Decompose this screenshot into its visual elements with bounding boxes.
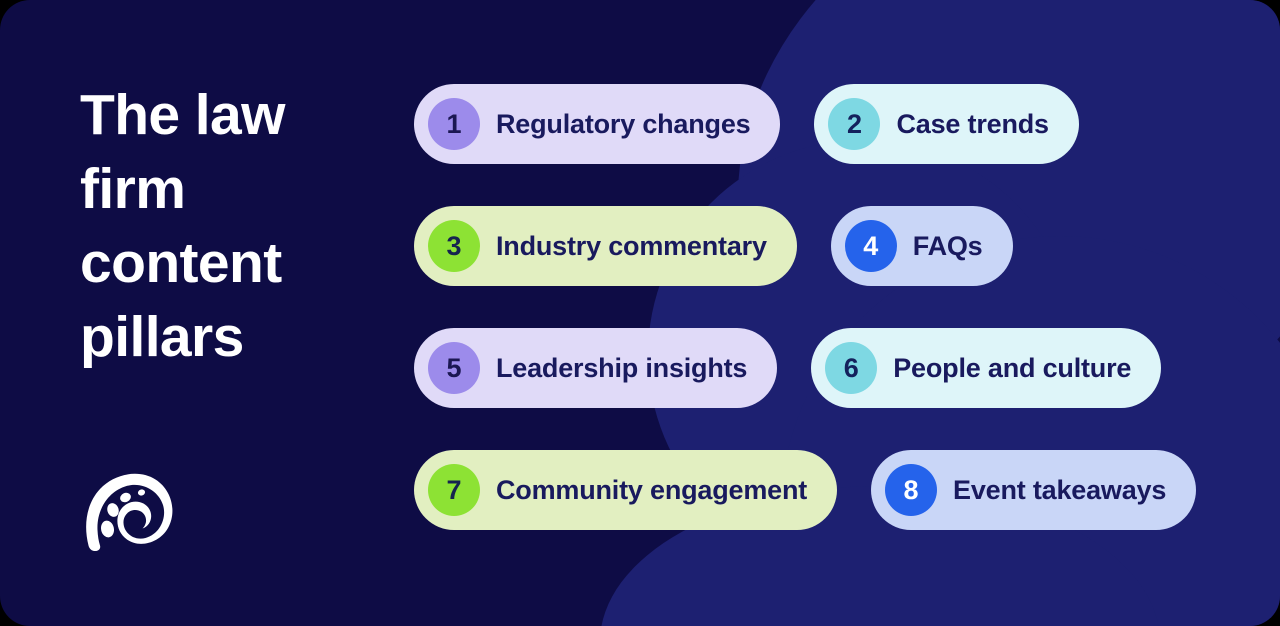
pillar-item-2[interactable]: 2 Case trends [814, 84, 1078, 164]
title-column: The law firm content pillars [80, 78, 390, 374]
pillar-item-8[interactable]: 8 Event takeaways [871, 450, 1196, 530]
pillar-label: People and culture [893, 353, 1131, 384]
pillar-item-6[interactable]: 6 People and culture [811, 328, 1161, 408]
page-title: The law firm content pillars [80, 78, 390, 374]
infographic-card: The law firm content pillars 1 Regulator… [0, 0, 1280, 626]
pillar-number-badge: 3 [428, 220, 480, 272]
pill-row: 3 Industry commentary 4 FAQs [414, 206, 1204, 286]
pillar-number-badge: 4 [845, 220, 897, 272]
pillar-number-badge: 2 [828, 98, 880, 150]
pill-row: 7 Community engagement 8 Event takeaways [414, 450, 1204, 530]
pillar-item-1[interactable]: 1 Regulatory changes [414, 84, 780, 164]
pillar-number-badge: 5 [428, 342, 480, 394]
pillar-item-7[interactable]: 7 Community engagement [414, 450, 837, 530]
pillar-label: Industry commentary [496, 231, 767, 262]
pill-row: 5 Leadership insights 6 People and cultu… [414, 328, 1204, 408]
pillar-number-badge: 7 [428, 464, 480, 516]
pillar-label: Community engagement [496, 475, 807, 506]
pillar-label: FAQs [913, 231, 983, 262]
pillar-item-5[interactable]: 5 Leadership insights [414, 328, 777, 408]
pillar-number-badge: 6 [825, 342, 877, 394]
pillar-item-3[interactable]: 3 Industry commentary [414, 206, 797, 286]
pillar-label: Regulatory changes [496, 109, 750, 140]
pillar-number-badge: 8 [885, 464, 937, 516]
pill-row: 1 Regulatory changes 2 Case trends [414, 84, 1204, 164]
pillar-label: Event takeaways [953, 475, 1166, 506]
pillar-label: Case trends [896, 109, 1048, 140]
content-pillar-list: 1 Regulatory changes 2 Case trends 3 Ind… [414, 84, 1204, 530]
pillar-label: Leadership insights [496, 353, 747, 384]
pillar-item-4[interactable]: 4 FAQs [831, 206, 1013, 286]
pillar-number-badge: 1 [428, 98, 480, 150]
spiral-wave-logo-icon [80, 462, 180, 558]
